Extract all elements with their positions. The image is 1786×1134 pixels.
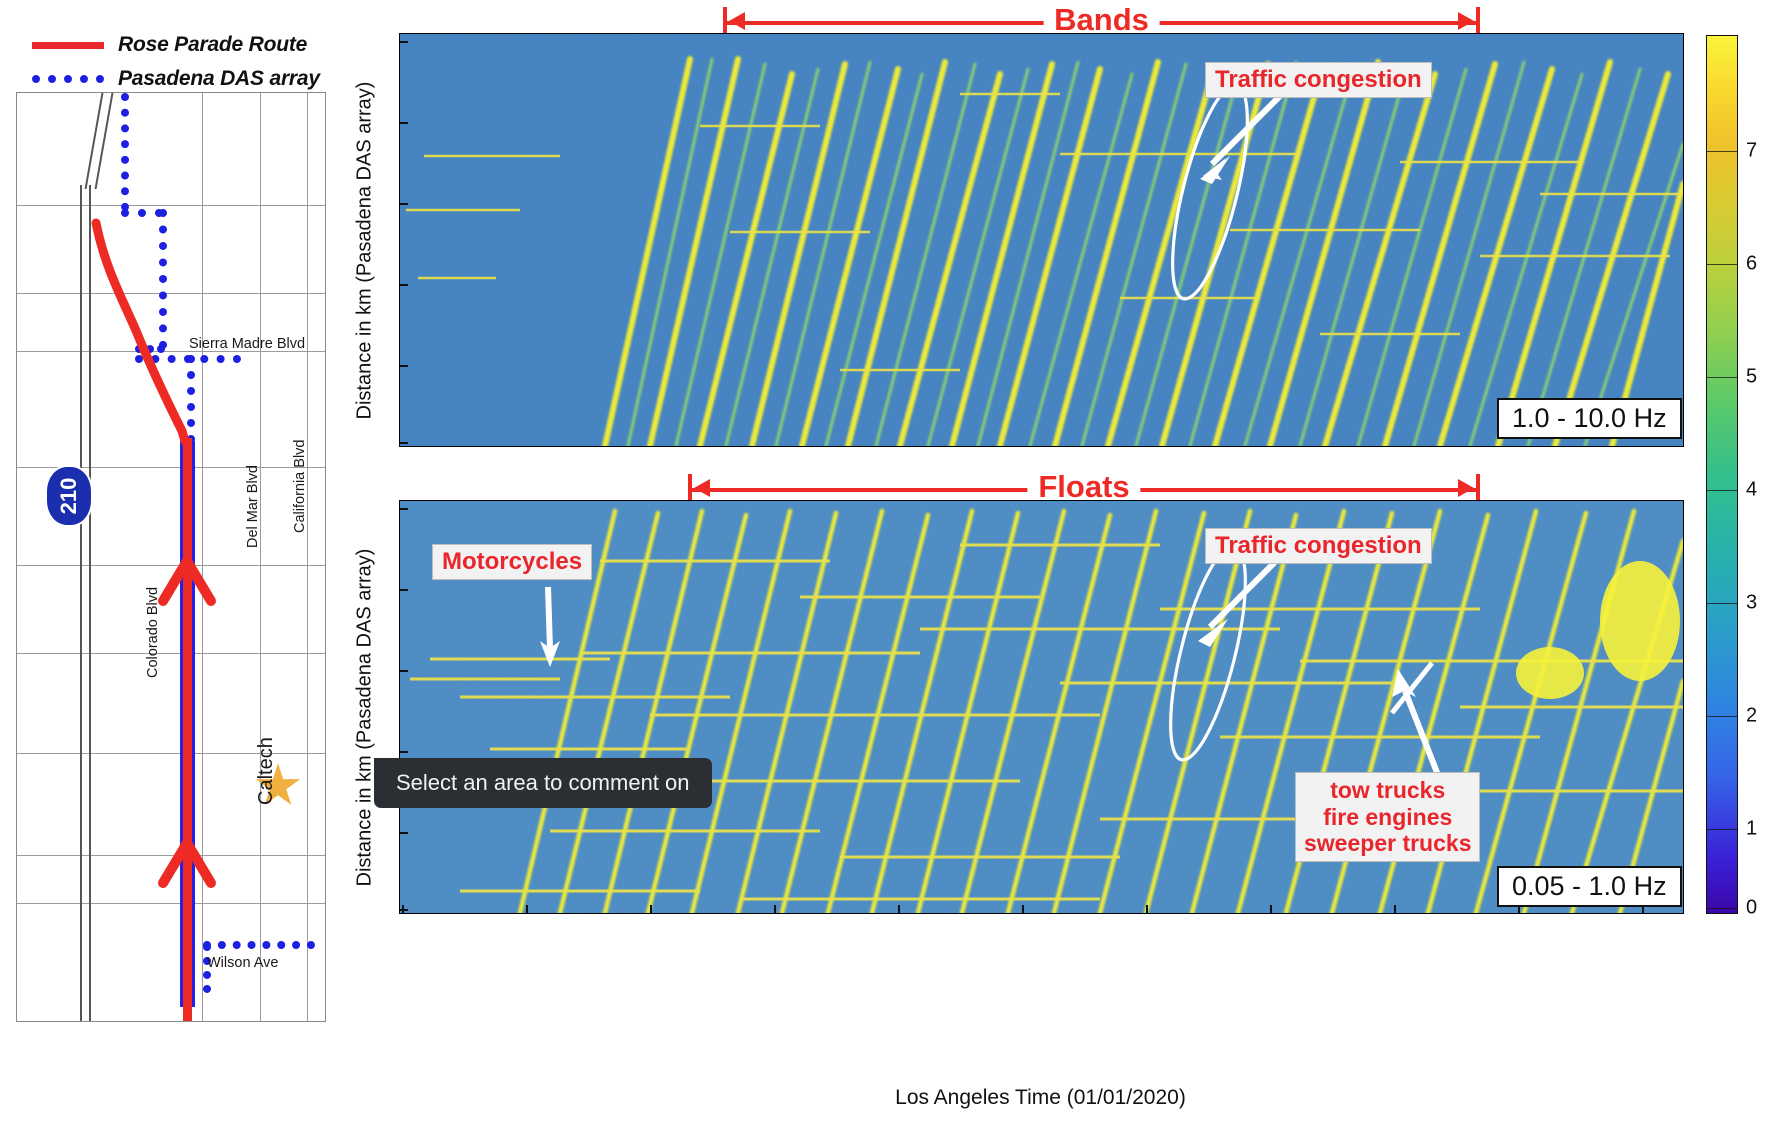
legend-item-das: Pasadena DAS array [10, 62, 330, 96]
callout-line-1: tow trucks [1304, 777, 1471, 804]
map-gridline [17, 855, 325, 856]
select-area-tooltip[interactable]: Select an area to comment on [374, 758, 712, 808]
map-gridline [17, 293, 325, 294]
arrow-right-icon [1458, 479, 1474, 497]
das-segment [187, 355, 195, 443]
freeway-shield-label: 210 [47, 467, 91, 525]
freq-band-label-floats: 0.05 - 1.0 Hz [1497, 866, 1682, 907]
map-gridline [17, 565, 325, 566]
congestion-arrow-bands [1200, 96, 1280, 184]
heatmap-render-bands [400, 34, 1683, 446]
motorcycles-arrow [540, 587, 560, 667]
y-axis-label-bottom: Distance in km (Pasadena DAS array) [354, 528, 377, 908]
congestion-ellipse-bands [1157, 79, 1263, 306]
map-gridline [17, 653, 325, 654]
das-line-swatch [32, 75, 104, 83]
callout-tow-trucks: tow trucks fire engines sweeper trucks [1295, 772, 1480, 862]
callout-motorcycles: Motorcycles [432, 544, 592, 580]
map-gridline [17, 903, 325, 904]
map-label-sierra-madre: Sierra Madre Blvd [189, 336, 305, 352]
colorbar: 7 6 5 4 3 2 1 0 [1706, 35, 1738, 914]
route-line-swatch [32, 42, 104, 49]
map-gridline [307, 93, 308, 1021]
tooltip-text: Select an area to comment on [396, 770, 690, 796]
callout-traffic-congestion-floats: Traffic congestion [1205, 528, 1432, 564]
map-label-del-mar: Del Mar Blvd [245, 465, 261, 548]
map-gridline [260, 93, 261, 1021]
callout-line-3: sweeper trucks [1304, 830, 1471, 857]
map-label-colorado: Colorado Blvd [145, 587, 161, 678]
legend-label-das: Pasadena DAS array [118, 67, 320, 91]
map-panel: Rose Parade Route Pasadena DAS array [0, 0, 340, 1134]
callout-traffic-congestion-bands: Traffic congestion [1205, 62, 1432, 98]
x-axis-label: Los Angeles Time (01/01/2020) [399, 1086, 1682, 1110]
map-label-wilson: Wilson Ave [207, 955, 278, 971]
street-map[interactable]: 210 Caltech Sierra Madre Blvd California… [16, 92, 326, 1022]
freeway-line [80, 185, 82, 1021]
map-gridline [17, 753, 325, 754]
arrow-left-icon [729, 12, 745, 30]
parade-route-curve [96, 223, 185, 441]
legend-label-route: Rose Parade Route [118, 33, 307, 57]
freeway-shield-210: 210 [45, 465, 93, 527]
map-legend: Rose Parade Route Pasadena DAS array [10, 28, 330, 100]
freeway-line [85, 93, 104, 189]
parade-route-colorado [183, 438, 192, 1022]
parade-route-overlay [17, 93, 325, 1021]
map-label-caltech: Caltech [255, 737, 278, 805]
arrow-right-icon [1458, 12, 1474, 30]
callout-line-2: fire engines [1304, 804, 1471, 831]
legend-item-route: Rose Parade Route [10, 28, 330, 62]
freq-band-label-bands: 1.0 - 10.0 Hz [1497, 398, 1682, 439]
y-axis-label-top: Distance in km (Pasadena DAS array) [354, 61, 377, 441]
arrow-left-icon [694, 479, 710, 497]
freeway-line [95, 93, 114, 189]
waterfall-plot-bands[interactable]: 2.5 2 1.5 1 0.5 0 [399, 33, 1684, 447]
das-segment [121, 93, 129, 211]
congestion-arrow-floats [1198, 559, 1278, 647]
map-gridline [202, 93, 203, 1021]
das-segment [203, 941, 315, 949]
map-label-california: California Blvd [292, 440, 308, 534]
congestion-ellipse-floats [1155, 540, 1261, 767]
map-gridline [17, 205, 325, 206]
heatmap-render-floats [400, 501, 1683, 913]
das-segment [121, 209, 163, 217]
das-segment [135, 345, 165, 353]
route-arrowheads [17, 93, 325, 1021]
das-segment [159, 209, 167, 349]
freeway-line [89, 185, 91, 1021]
